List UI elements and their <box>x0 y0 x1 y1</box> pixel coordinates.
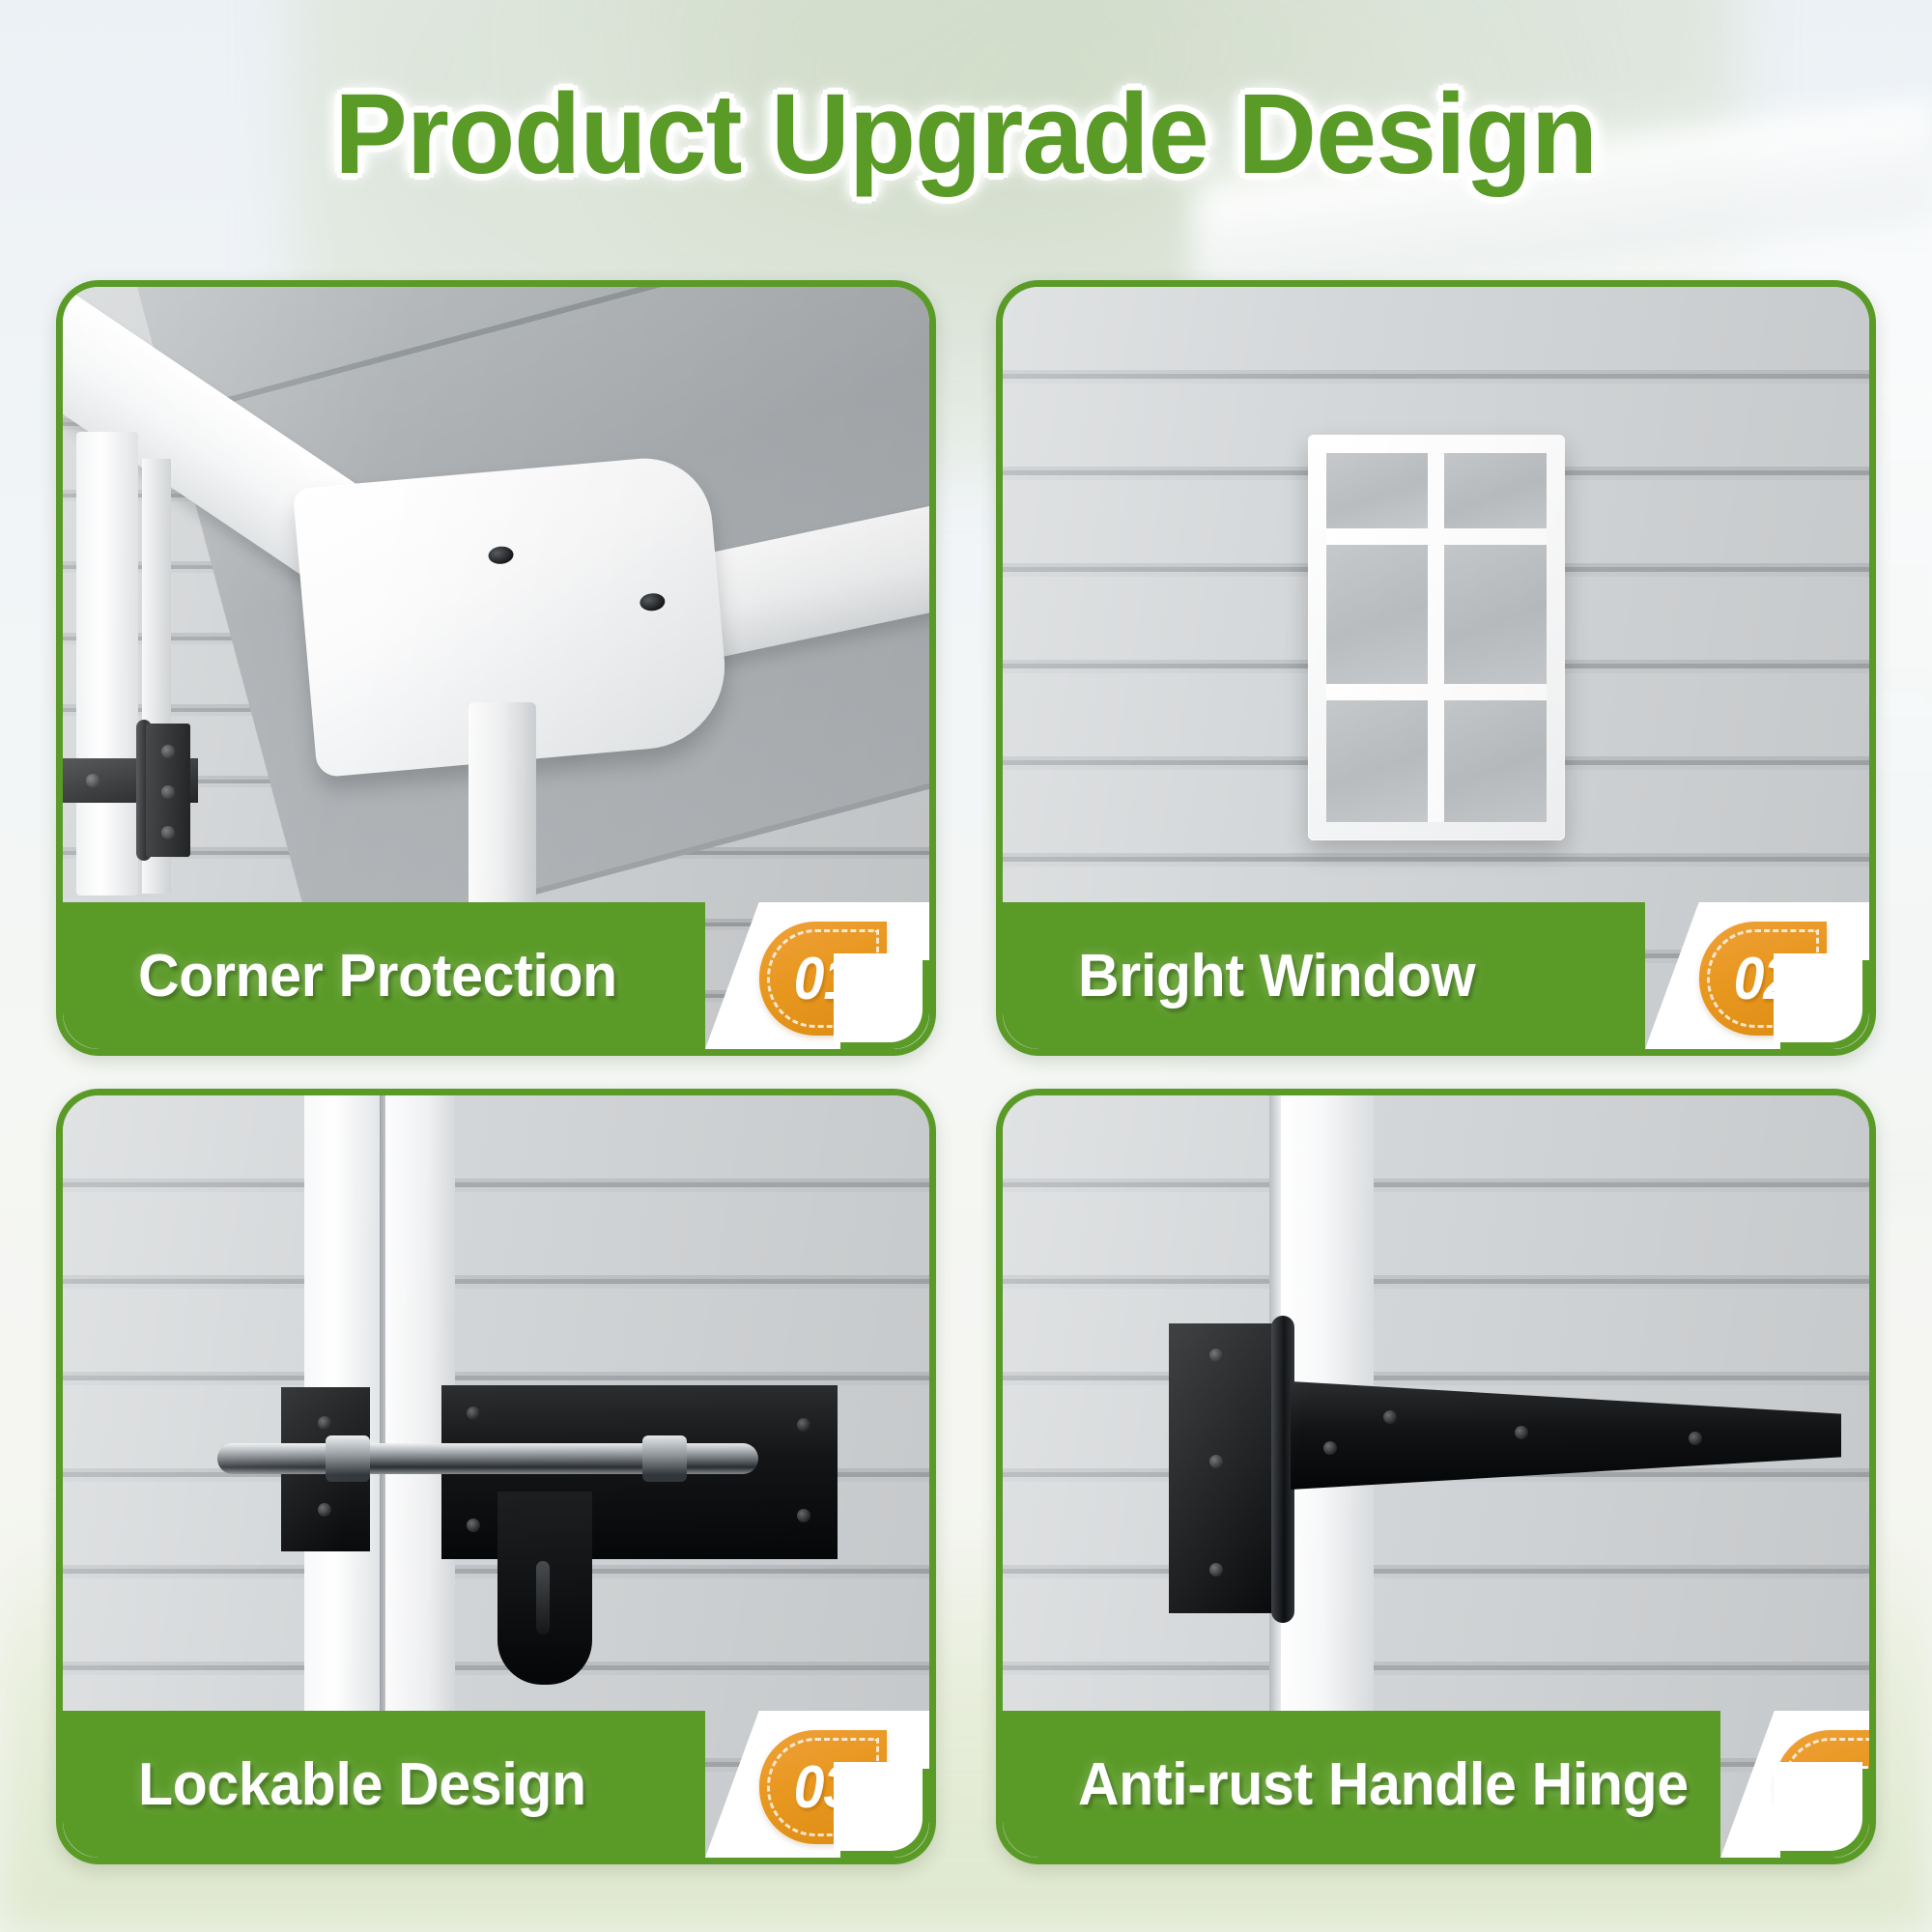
caption-green-panel: Lockable Design <box>63 1711 705 1858</box>
feature-card-grid: Corner Protection 01 <box>56 280 1876 1864</box>
card-caption-bar: Anti-rust Handle Hinge 04 <box>1003 1711 1869 1858</box>
page-title-container: Product Upgrade Design <box>0 73 1932 196</box>
feature-card-corner-protection[interactable]: Corner Protection 01 <box>56 280 936 1056</box>
caption-corner-accent <box>840 1769 929 1858</box>
caption-green-panel: Corner Protection <box>63 902 705 1049</box>
card-caption-bar: Lockable Design 03 <box>63 1711 929 1858</box>
caption-label: Bright Window <box>1078 942 1475 1010</box>
feature-card-anti-rust-handle-hinge[interactable]: Anti-rust Handle Hinge 04 <box>996 1089 1876 1864</box>
caption-green-panel: Bright Window <box>1003 902 1645 1049</box>
caption-corner-accent <box>840 960 929 1049</box>
caption-label: Lockable Design <box>138 1750 586 1819</box>
caption-corner-accent <box>1780 1769 1869 1858</box>
caption-label: Anti-rust Handle Hinge <box>1078 1750 1689 1819</box>
feature-card-lockable-design[interactable]: Lockable Design 03 <box>56 1089 936 1864</box>
card-caption-bar: Bright Window 02 <box>1003 902 1869 1049</box>
caption-corner-accent <box>1780 960 1869 1049</box>
card-caption-bar: Corner Protection 01 <box>63 902 929 1049</box>
caption-label: Corner Protection <box>138 942 617 1010</box>
caption-green-panel: Anti-rust Handle Hinge <box>1003 1711 1720 1858</box>
page-title: Product Upgrade Design <box>335 73 1598 196</box>
feature-card-bright-window[interactable]: Bright Window 02 <box>996 280 1876 1056</box>
